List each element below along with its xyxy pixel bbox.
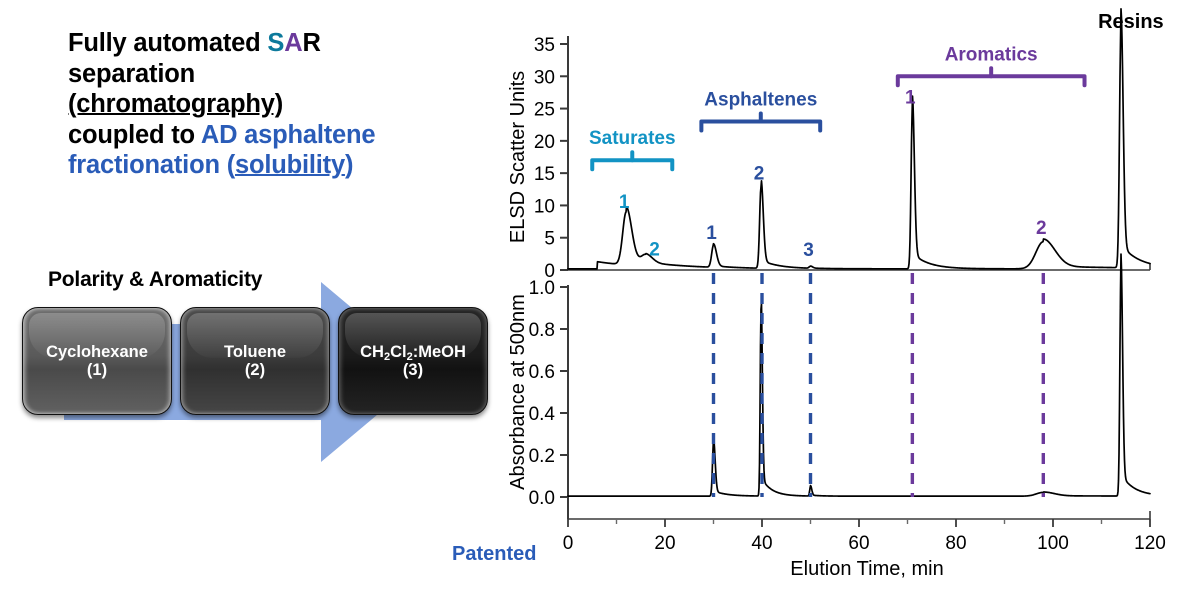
elsd-peak-label-aromatics-2: 2 xyxy=(1036,218,1047,239)
polarity-aromaticity-label: Polarity & Aromaticity xyxy=(48,268,262,292)
slide-root: Fully automated SAR separation (chromato… xyxy=(0,0,1202,591)
elsd-peak-label-saturates-2: 2 xyxy=(649,240,660,261)
x-axis-title: Elution Time, min xyxy=(790,558,943,580)
headline-line3-chromatography: (chromatography) xyxy=(68,90,283,118)
elsd-peak-label-asphaltenes-3: 3 xyxy=(803,240,814,261)
solvent-number-1: (1) xyxy=(87,361,107,379)
x-axis-tick-label: 80 xyxy=(945,533,966,554)
elsd-peak-label-asphaltenes-2: 2 xyxy=(754,164,765,185)
elsd-y-tick-label: 35 xyxy=(534,35,555,56)
page-title: Fully automated SAR separation (chromato… xyxy=(68,28,438,181)
solvent-sequence: Cyclohexane (1) Toluene (2) CH2Cl2:MeOH … xyxy=(22,307,488,415)
absorbance-y-axis-title: Absorbance at 500nm xyxy=(507,294,529,490)
elsd-y-tick-label: 20 xyxy=(534,132,555,153)
elsd-y-tick-label: 10 xyxy=(534,196,555,217)
elsd-peak-label-saturates-1: 1 xyxy=(619,192,630,213)
solvent-box-dcm-meoh[interactable]: CH2Cl2:MeOH (3) xyxy=(338,307,488,415)
solvent-name-3: CH2Cl2:MeOH xyxy=(360,343,466,361)
absorbance-y-tick-label: 0.2 xyxy=(529,446,555,467)
region-bracket-asphaltenes xyxy=(701,121,820,130)
absorbance-y-tick-label: 0.8 xyxy=(529,320,555,341)
patented-label: Patented xyxy=(452,543,536,566)
solvent-box-cyclohexane[interactable]: Cyclohexane (1) xyxy=(22,307,172,415)
region-label-aromatics: Aromatics xyxy=(945,44,1038,65)
elsd-y-tick-label: 25 xyxy=(534,100,555,121)
absorbance-y-tick-label: 0.4 xyxy=(529,404,556,425)
sar-s-letter: S xyxy=(267,29,284,57)
elsd-y-tick-label: 15 xyxy=(534,164,555,185)
sar-r-letter: R xyxy=(302,29,320,57)
elsd-y-tick-label: 0 xyxy=(544,261,555,282)
solvent-number-2: (2) xyxy=(245,361,265,379)
solvent-name-1: Cyclohexane xyxy=(46,343,148,361)
absorbance-chromatogram-trace xyxy=(568,254,1150,496)
solvent-name-2: Toluene xyxy=(224,343,286,361)
headline-line5-post: ) xyxy=(345,151,353,179)
headline-line5-pre: fractionation ( xyxy=(68,151,235,179)
elsd-y-axis-title: ELSD Scatter Units xyxy=(507,71,529,243)
elsd-y-tick-label: 30 xyxy=(534,67,555,88)
x-axis-tick-label: 60 xyxy=(848,533,869,554)
headline-line4-pre: coupled to xyxy=(68,121,201,149)
region-bracket-aromatics xyxy=(898,76,1085,85)
absorbance-y-tick-label: 0.0 xyxy=(529,488,555,509)
region-label-asphaltenes: Asphaltenes xyxy=(704,89,817,110)
sar-a-letter: A xyxy=(284,29,302,57)
x-axis-tick-label: 0 xyxy=(563,533,574,554)
solvent-box-toluene[interactable]: Toluene (2) xyxy=(180,307,330,415)
region-label-saturates: Saturates xyxy=(589,128,676,149)
x-axis-tick-label: 100 xyxy=(1037,533,1069,554)
absorbance-y-tick-label: 1.0 xyxy=(529,278,555,299)
region-bracket-saturates xyxy=(592,160,672,169)
resins-annotation-label: Resins xyxy=(1098,11,1164,33)
headline-line5-solubility: solubility xyxy=(235,151,345,179)
x-axis-tick-label: 120 xyxy=(1134,533,1166,554)
solvent-number-3: (3) xyxy=(403,361,423,379)
headline-line2: separation xyxy=(68,60,195,88)
elsd-peak-label-asphaltenes-1: 1 xyxy=(706,223,717,244)
headline-line4-ad-asphaltene: AD asphaltene xyxy=(201,121,376,149)
x-axis-tick-label: 40 xyxy=(751,533,772,554)
x-axis-tick-label: 20 xyxy=(654,533,675,554)
elsd-chromatogram-trace xyxy=(568,9,1150,269)
elsd-y-tick-label: 5 xyxy=(544,229,555,250)
elsd-peak-label-aromatics-1: 1 xyxy=(905,87,916,108)
headline-line1-pre: Fully automated xyxy=(68,29,267,57)
absorbance-y-tick-label: 0.6 xyxy=(529,362,555,383)
